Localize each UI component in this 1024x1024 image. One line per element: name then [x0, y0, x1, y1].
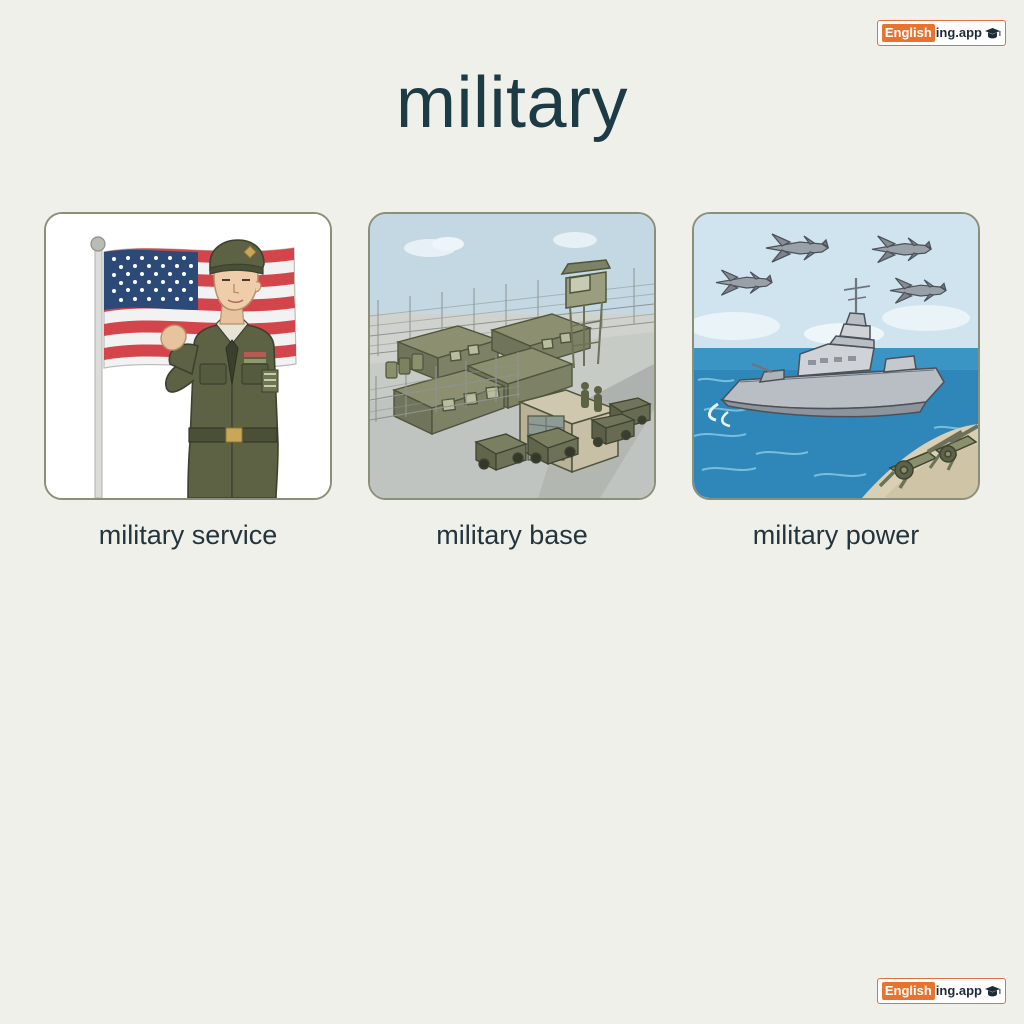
card-caption: military base	[368, 520, 656, 551]
card-military-base[interactable]: military base	[368, 212, 656, 551]
card-caption: military service	[44, 520, 332, 551]
watermark-orange-text: English	[882, 982, 935, 1000]
illustration-military-power	[692, 212, 980, 500]
illustration-military-base	[368, 212, 656, 500]
illustration-military-service	[44, 212, 332, 500]
watermark-top-right: English ing.app	[877, 20, 1006, 46]
watermark-bottom-right: English ing.app	[877, 978, 1006, 1004]
graduation-cap-icon	[984, 27, 1001, 40]
card-caption: military power	[692, 520, 980, 551]
watermark-dark-text: ing.app	[935, 26, 982, 40]
watermark-dark-text: ing.app	[935, 984, 982, 998]
card-military-service[interactable]: military service	[44, 212, 332, 551]
card-military-power[interactable]: military power	[692, 212, 980, 551]
watermark-orange-text: English	[882, 24, 935, 42]
illustration-cards-row: military service	[44, 212, 980, 551]
page-title: military	[0, 62, 1024, 144]
graduation-cap-icon	[984, 985, 1001, 998]
